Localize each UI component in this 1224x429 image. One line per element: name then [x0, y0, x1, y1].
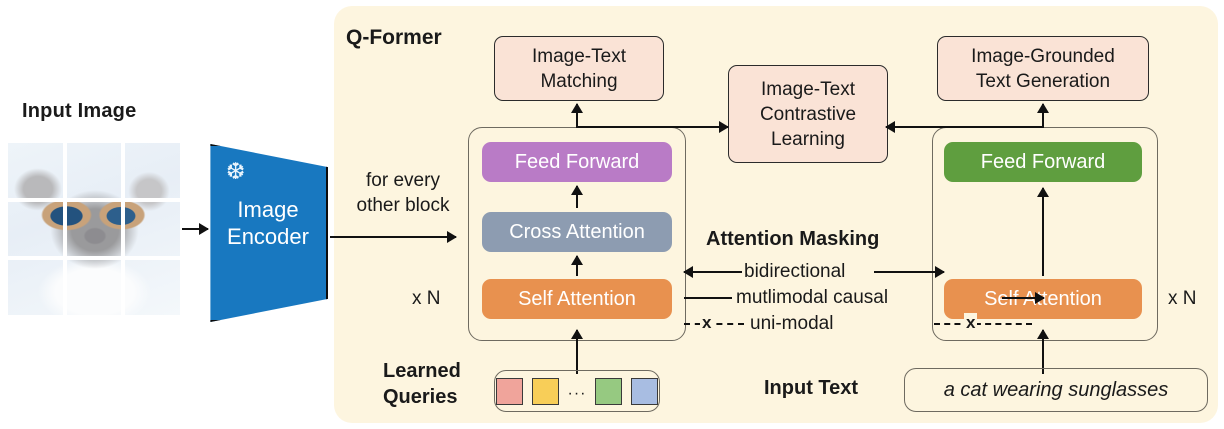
image-encoder-block: ❆ Image Encoder: [208, 144, 328, 322]
image-patch: [67, 202, 122, 257]
image-patch: [125, 143, 180, 198]
right-repeat-label: x N: [1168, 288, 1197, 310]
image-patch: [125, 260, 180, 315]
mask-label-uni-modal: uni-modal: [750, 313, 833, 335]
input-text-value-box[interactable]: a cat wearing sunglasses: [904, 368, 1208, 412]
mask-connector-bidirectional-left: [684, 271, 742, 273]
arrow-cross-to-feed-forward: [576, 186, 578, 208]
blocked-x-icon-left: x: [700, 313, 713, 333]
learned-queries-line1: Learned: [383, 358, 493, 384]
input-text-label: Input Text: [764, 377, 858, 400]
qformer-title: Q-Former: [346, 26, 442, 50]
attention-masking-title: Attention Masking: [706, 228, 879, 251]
arrow-right-self-to-feed-forward: [1042, 188, 1044, 276]
itm-line2: Matching: [532, 69, 626, 94]
left-self-attention: Self Attention: [482, 279, 672, 319]
query-token-3: [595, 378, 622, 405]
arrow-left-block-to-contrastive: [576, 126, 728, 128]
image-grounded-text-generation-box: Image-Grounded Text Generation: [937, 36, 1149, 101]
input-image-patch-grid: [8, 143, 180, 315]
itm-line1: Image-Text: [532, 44, 626, 69]
left-cross-attention: Cross Attention: [482, 212, 672, 252]
image-patch: [67, 260, 122, 315]
right-feed-forward: Feed Forward: [944, 142, 1142, 182]
for-every-other-block-label: for every other block: [343, 168, 463, 218]
image-patch: [8, 143, 63, 198]
mask-connector-multimodal-right: [1002, 297, 1044, 299]
snowflake-icon: ❆: [226, 160, 245, 183]
mask-label-bidirectional: bidirectional: [744, 261, 845, 283]
arrow-left-block-to-itm: [576, 104, 578, 126]
encoder-label: Image Encoder: [208, 196, 328, 250]
image-text-matching-box: Image-Text Matching: [494, 36, 664, 101]
itc-line3: Learning: [760, 127, 856, 152]
input-image-label: Input Image: [22, 100, 136, 123]
arrow-encoder-to-cross-attention: [330, 236, 456, 238]
arrow-right-block-to-contrastive: [886, 126, 1044, 128]
arrow-self-to-cross-attention: [576, 256, 578, 276]
image-patch: [125, 202, 180, 257]
arrow-image-to-encoder: [182, 228, 208, 230]
itc-line1: Image-Text: [760, 77, 856, 102]
image-patch: [8, 260, 63, 315]
igtg-line2: Text Generation: [971, 69, 1115, 94]
for-every-other-block-line2: other block: [343, 193, 463, 218]
itc-line2: Contrastive: [760, 102, 856, 127]
learned-queries-box: ···: [494, 370, 660, 412]
encoder-label-line2: Encoder: [208, 223, 328, 250]
arrow-queries-to-self-attention: [576, 330, 578, 374]
query-ellipsis: ···: [568, 385, 587, 403]
image-patch: [67, 143, 122, 198]
learned-queries-label: Learned Queries: [383, 358, 493, 410]
blocked-x-icon-right: x: [964, 313, 977, 333]
mask-connector-unimodal-left: [684, 323, 744, 325]
image-patch: [8, 202, 63, 257]
learned-queries-line2: Queries: [383, 384, 493, 410]
query-token-2: [532, 378, 559, 405]
arrow-right-block-to-text-generation: [1042, 104, 1044, 126]
mask-connector-bidirectional-right: [874, 271, 944, 273]
for-every-other-block-line1: for every: [343, 168, 463, 193]
mask-connector-multimodal-left: [684, 297, 732, 299]
mask-label-multimodal-causal: mutlimodal causal: [736, 287, 888, 309]
left-repeat-label: x N: [412, 288, 441, 310]
left-feed-forward: Feed Forward: [482, 142, 672, 182]
encoder-label-line1: Image: [208, 196, 328, 223]
mask-connector-unimodal-right: [934, 323, 1032, 325]
query-token-4: [631, 378, 658, 405]
image-text-contrastive-learning-box: Image-Text Contrastive Learning: [728, 65, 888, 163]
query-token-1: [496, 378, 523, 405]
igtg-line1: Image-Grounded: [971, 44, 1115, 69]
